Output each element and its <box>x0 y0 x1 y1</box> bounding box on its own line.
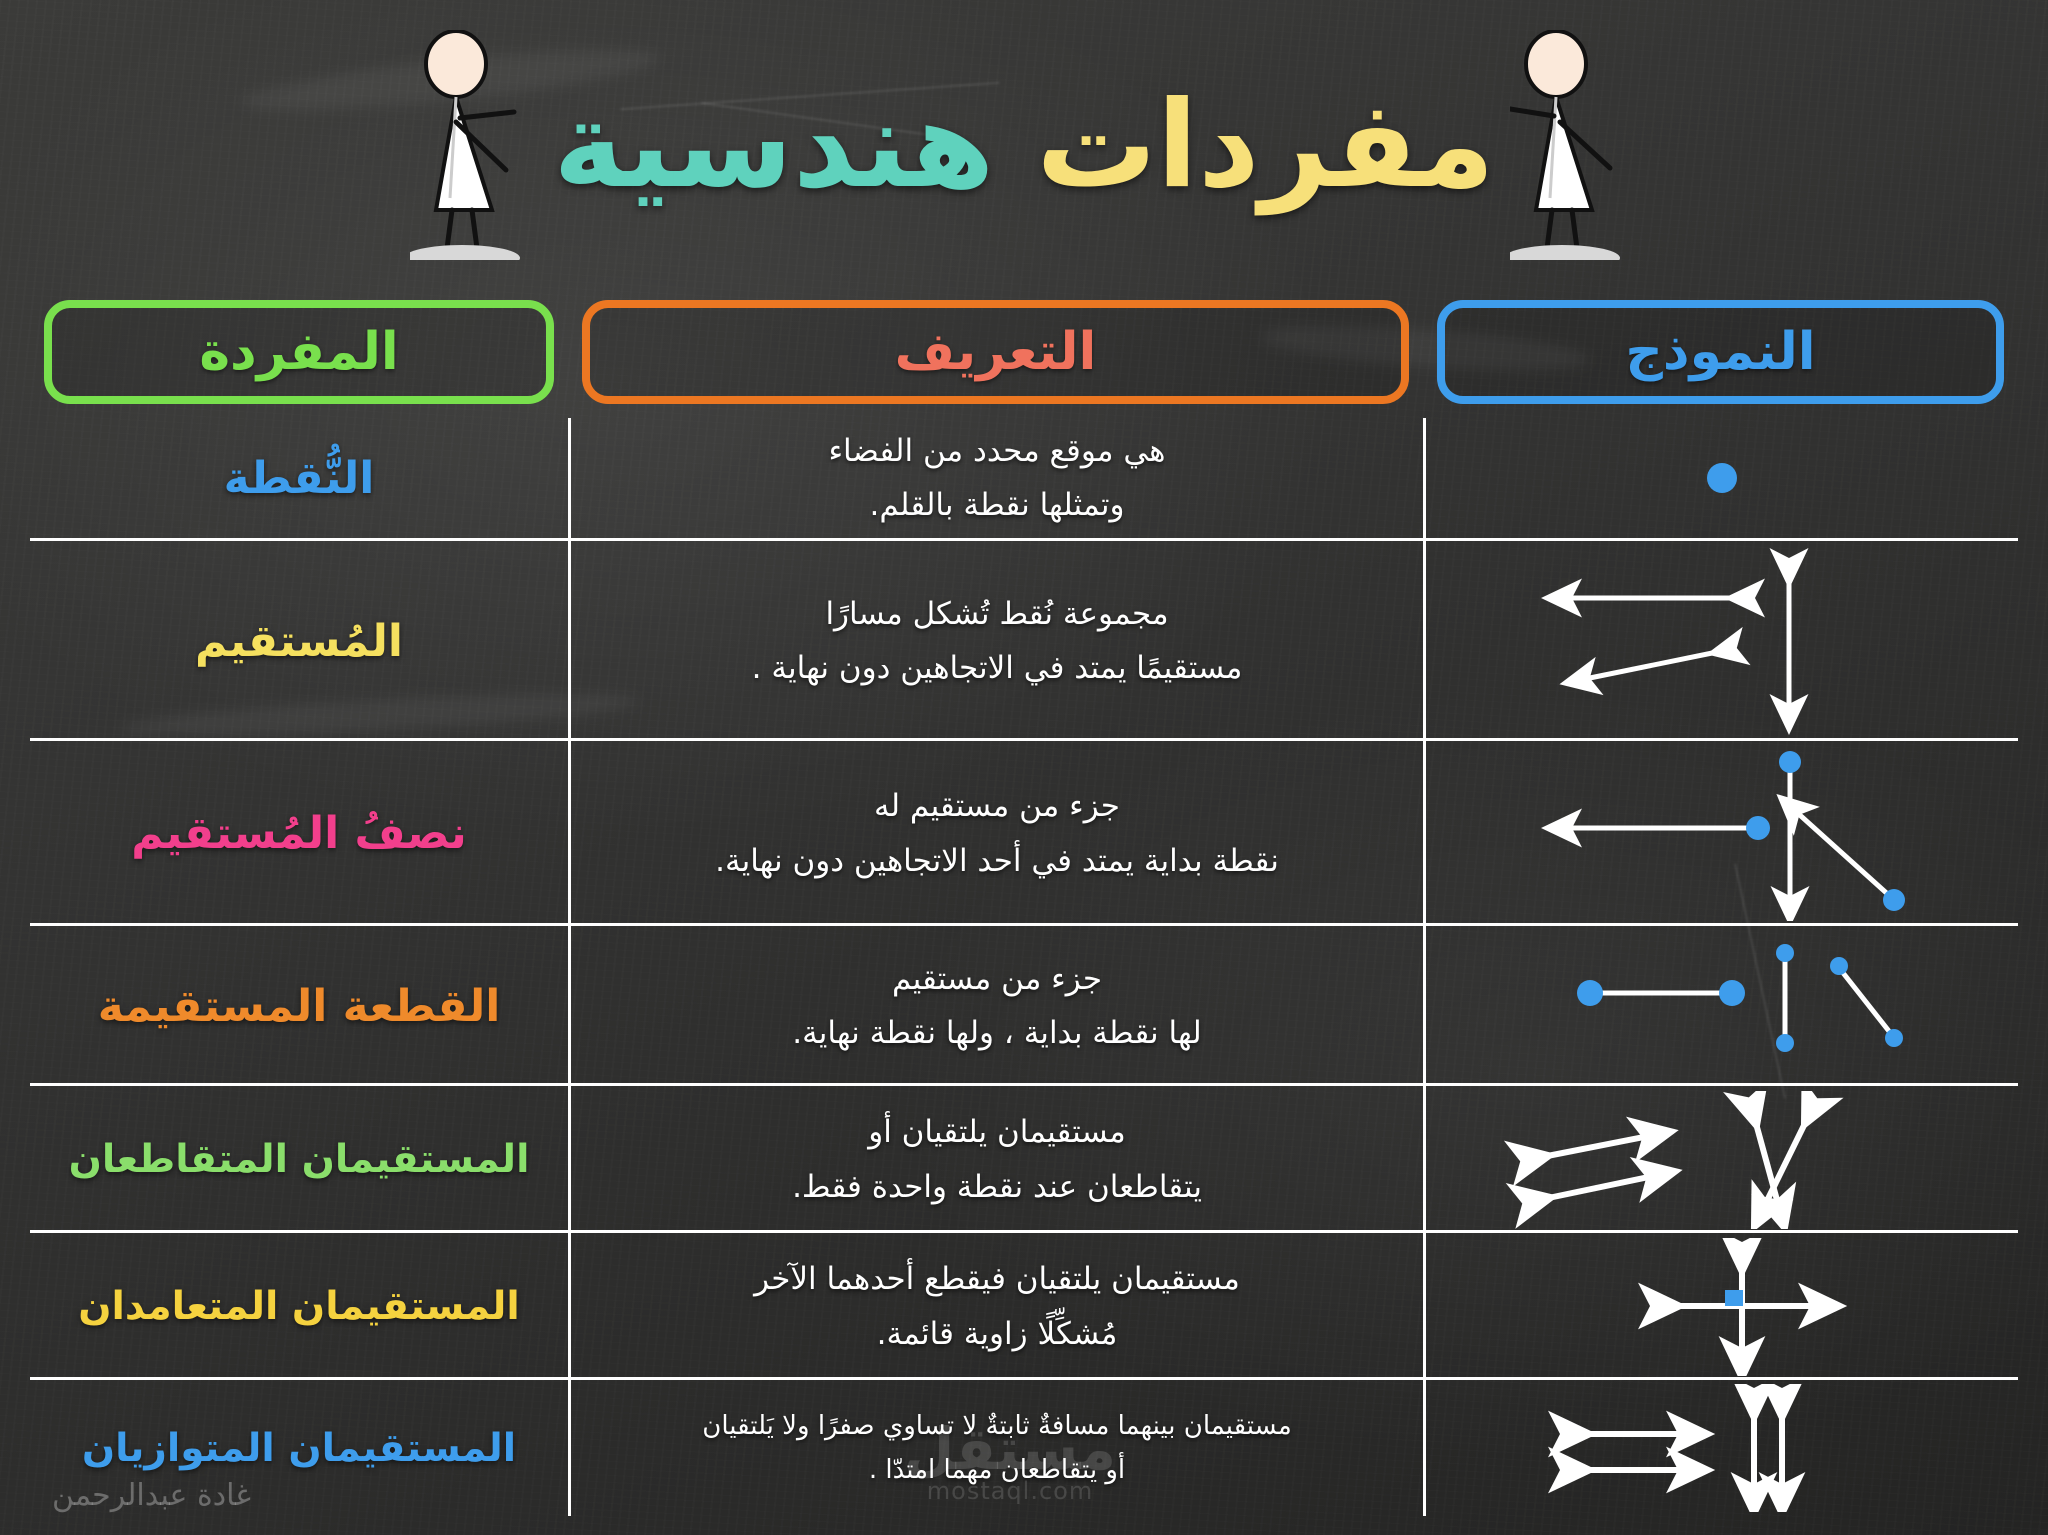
perpendicular-lines-icon <box>1462 1238 1982 1376</box>
model-cell <box>1423 541 2018 741</box>
definition-cell: جزء من مستقيم له نقطة بداية يمتد في أحد … <box>568 741 1423 926</box>
model-cell <box>1423 418 2018 538</box>
parallel-lines-icon <box>1462 1384 1982 1512</box>
segments-two-endpoints-icon <box>1462 931 1982 1081</box>
vocabulary-term: المُستقيم <box>195 616 403 667</box>
definition-line: نقطة بداية يمتد في أحد الاتجاهين دون نها… <box>715 834 1279 888</box>
definition-line: مجموعة نُقط تُشكل مسارًا <box>752 587 1243 641</box>
vocabulary-table: هي موقع محدد من الفضاء وتمثلها نقطة بالق… <box>30 418 2018 1513</box>
model-cell <box>1423 1380 2018 1516</box>
chalkboard-poster: مفردات هندسية النموذج التعريف المفردة <box>0 0 2048 1535</box>
table-row: جزء من مستقيم له نقطة بداية يمتد في أحد … <box>30 738 2018 923</box>
vocabulary-cell: نصفُ المُستقيم <box>30 741 568 926</box>
stick-figure-kid-right <box>1510 30 1630 260</box>
vocabulary-cell: النُّقطة <box>30 418 568 538</box>
rays-with-endpoint-icon <box>1462 746 1982 921</box>
table-row: مستقيمان يلتقيان فيقطع أحدهما الآخر مُشك… <box>30 1230 2018 1377</box>
column-headers: النموذج التعريف المفردة <box>30 293 2018 411</box>
definition-text: هي موقع محدد من الفضاء وتمثلها نقطة بالق… <box>828 424 1165 533</box>
table-row: هي موقع محدد من الفضاء وتمثلها نقطة بالق… <box>30 418 2018 538</box>
definition-cell: مستقيمان يلتقيان فيقطع أحدهما الآخر مُشك… <box>568 1233 1423 1380</box>
definition-cell: جزء من مستقيم لها نقطة بداية ، ولها نقطة… <box>568 926 1423 1086</box>
header-cell-vocabulary: المفردة <box>30 293 568 411</box>
definition-line: وتمثلها نقطة بالقلم. <box>828 478 1165 532</box>
definition-text: جزء من مستقيم له نقطة بداية يمتد في أحد … <box>715 779 1279 888</box>
vocabulary-cell: المستقيمان المتعامدان <box>30 1233 568 1380</box>
vocabulary-term: المستقيمان المتعامدان <box>78 1284 519 1329</box>
definition-cell: هي موقع محدد من الفضاء وتمثلها نقطة بالق… <box>568 418 1423 538</box>
definition-cell: مستقيمان يلتقيان أو يتقاطعان عند نقطة وا… <box>568 1086 1423 1233</box>
definition-line: لها نقطة بداية ، ولها نقطة نهاية. <box>792 1006 1201 1060</box>
vocabulary-term: المستقيمان المتقاطعان <box>69 1137 530 1182</box>
table-row: مستقيمان بينهما مسافةٌ ثابتةٌ لا تساوي ص… <box>30 1377 2018 1513</box>
page-title: مفردات هندسية <box>553 76 1495 215</box>
table-row: مجموعة نُقط تُشكل مسارًا مستقيمًا يمتد ف… <box>30 538 2018 738</box>
vocabulary-term: المستقيمان المتوازيان <box>82 1426 516 1471</box>
double-headed-lines-icon <box>1462 546 1982 736</box>
table-row: مستقيمان يلتقيان أو يتقاطعان عند نقطة وا… <box>30 1083 2018 1230</box>
definition-line: جزء من مستقيم له <box>715 779 1279 833</box>
table-row: جزء من مستقيم لها نقطة بداية ، ولها نقطة… <box>30 923 2018 1083</box>
model-cell <box>1423 1233 2018 1380</box>
definition-text: مستقيمان يلتقيان فيقطع أحدهما الآخر مُشك… <box>754 1252 1240 1361</box>
header-pill-model: النموذج <box>1437 300 2004 404</box>
definition-line: هي موقع محدد من الفضاء <box>828 424 1165 478</box>
definition-line: جزء من مستقيم <box>792 952 1201 1006</box>
header-cell-model: النموذج <box>1423 293 2018 411</box>
definition-line: أو يتقاطعان مهما امتدّا . <box>702 1448 1292 1492</box>
vocabulary-term: نصفُ المُستقيم <box>131 808 467 859</box>
title-word-1: مفردات <box>1036 76 1495 215</box>
header-pill-definition: التعريف <box>582 300 1409 404</box>
definition-text: مستقيمان يلتقيان أو يتقاطعان عند نقطة وا… <box>792 1105 1202 1214</box>
definition-line: مستقيمان بينهما مسافةٌ ثابتةٌ لا تساوي ص… <box>702 1404 1292 1448</box>
definition-text: جزء من مستقيم لها نقطة بداية ، ولها نقطة… <box>792 952 1201 1061</box>
definition-line: مُشكِّلًا زاوية قائمة. <box>754 1307 1240 1361</box>
title-word-2: هندسية <box>553 76 994 215</box>
definition-text: مستقيمان بينهما مسافةٌ ثابتةٌ لا تساوي ص… <box>702 1404 1292 1492</box>
stick-figure-kid-left <box>410 30 530 260</box>
vocabulary-cell: المستقيمان المتوازيان <box>30 1380 568 1516</box>
intersecting-lines-icon <box>1462 1091 1982 1229</box>
point-dot-icon <box>1512 423 1932 533</box>
vocabulary-term: النُّقطة <box>224 453 375 504</box>
model-cell <box>1423 926 2018 1086</box>
model-cell <box>1423 741 2018 926</box>
definition-text: مجموعة نُقط تُشكل مسارًا مستقيمًا يمتد ف… <box>752 587 1243 696</box>
header-cell-definition: التعريف <box>568 293 1423 411</box>
header-pill-vocabulary: المفردة <box>44 300 554 404</box>
vocabulary-term: القطعة المستقيمة <box>98 981 501 1032</box>
definition-line: يتقاطعان عند نقطة واحدة فقط. <box>792 1160 1202 1214</box>
vocabulary-cell: المُستقيم <box>30 541 568 741</box>
model-cell <box>1423 1086 2018 1233</box>
definition-cell: مجموعة نُقط تُشكل مسارًا مستقيمًا يمتد ف… <box>568 541 1423 741</box>
definition-line: مستقيمان يلتقيان أو <box>792 1105 1202 1159</box>
poster-header: مفردات هندسية <box>0 0 2048 290</box>
vocabulary-cell: القطعة المستقيمة <box>30 926 568 1086</box>
definition-line: مستقيمان يلتقيان فيقطع أحدهما الآخر <box>754 1252 1240 1306</box>
definition-cell: مستقيمان بينهما مسافةٌ ثابتةٌ لا تساوي ص… <box>568 1380 1423 1516</box>
vocabulary-cell: المستقيمان المتقاطعان <box>30 1086 568 1233</box>
definition-line: مستقيمًا يمتد في الاتجاهين دون نهاية . <box>752 641 1243 695</box>
